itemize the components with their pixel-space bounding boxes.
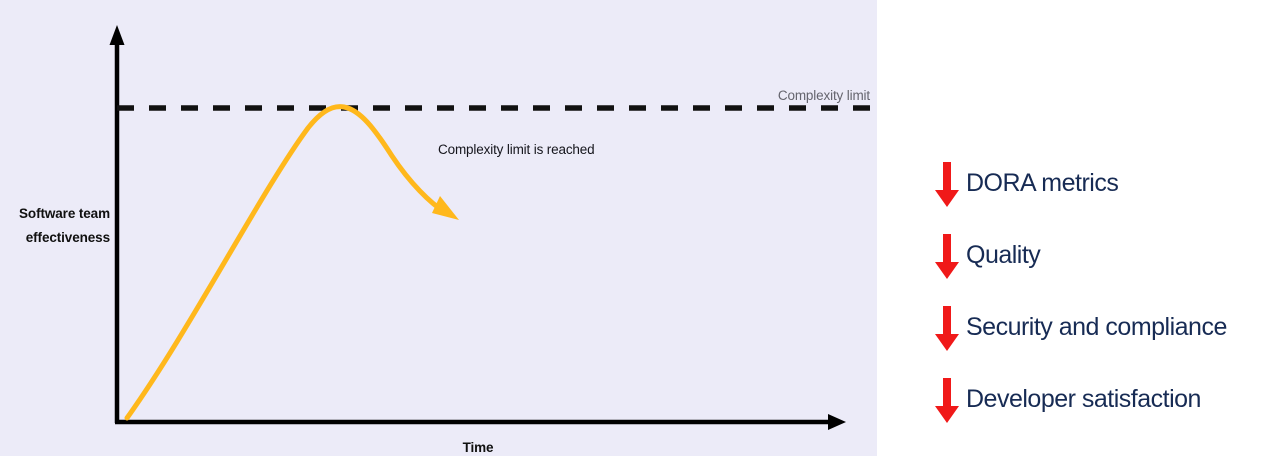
y-axis: [110, 25, 125, 423]
list-item: Quality: [932, 228, 1040, 286]
curve-arrowhead: [432, 196, 459, 220]
list-item-label: DORA metrics: [966, 171, 1118, 200]
chart-panel: Software team effectiveness Time Complex…: [0, 0, 877, 456]
list-item: Developer satisfaction: [932, 372, 1201, 430]
complexity-limit-reached-annotation: Complexity limit is reached: [438, 142, 595, 157]
chart-graphic: [0, 0, 877, 456]
list-item-label: Quality: [966, 243, 1040, 272]
list-item-label: Developer satisfaction: [966, 387, 1201, 416]
y-axis-label-line-2: effectiveness: [0, 226, 110, 250]
list-item: DORA metrics: [932, 156, 1118, 214]
arrow-down-icon: [932, 232, 962, 282]
declining-metrics-list: DORA metrics Quality Security and compli…: [877, 0, 1270, 456]
x-axis-arrowhead: [828, 414, 846, 430]
list-item-label: Security and compliance: [966, 315, 1227, 344]
list-item: Security and compliance: [932, 300, 1227, 358]
y-axis-arrowhead: [110, 25, 125, 45]
arrow-down-icon: [932, 304, 962, 354]
y-axis-label: Software team effectiveness: [0, 202, 110, 249]
arrow-down-icon: [932, 160, 962, 210]
y-axis-label-line-1: Software team: [0, 202, 110, 226]
effectiveness-curve: [127, 107, 459, 418]
complexity-limit-label: Complexity limit: [600, 88, 870, 103]
arrow-down-icon: [932, 376, 962, 426]
x-axis: [115, 414, 846, 430]
x-axis-label: Time: [418, 436, 538, 460]
